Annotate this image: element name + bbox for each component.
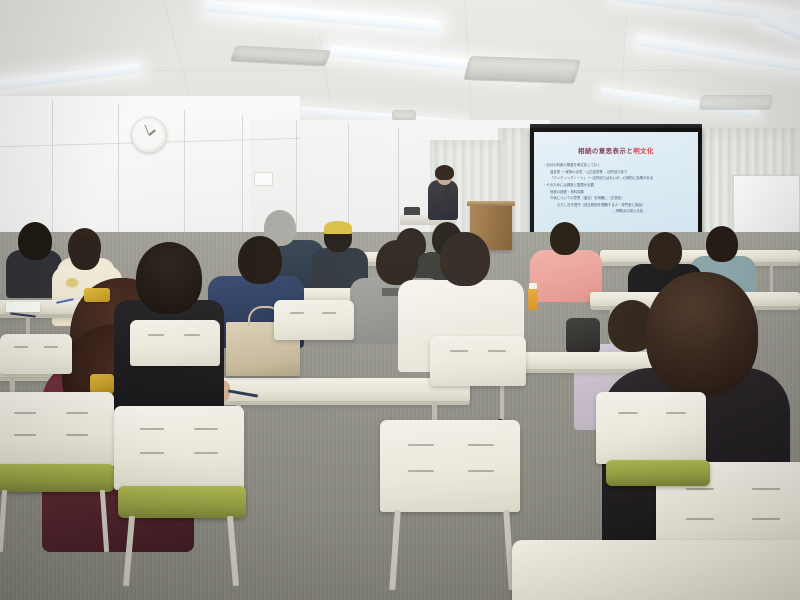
- presenter-torso: [428, 180, 458, 220]
- attendee-head: [70, 236, 100, 270]
- attendee-head: [18, 222, 52, 260]
- attendee-head: [648, 232, 682, 270]
- chair-back-slot: [408, 470, 434, 472]
- slide-line: → 問題点の見える化: [543, 208, 692, 215]
- chair-back-slot: [14, 346, 28, 348]
- chair-foreground-left[interactable]: [0, 392, 114, 468]
- chair-backrest: [430, 336, 526, 386]
- chair-back-slot: [140, 452, 164, 454]
- chair-back-slot: [66, 434, 88, 436]
- chair-backrest: [0, 334, 72, 374]
- chair-back-slot: [184, 334, 200, 336]
- chair-back-slot: [408, 444, 434, 446]
- wall-clock: [131, 117, 167, 153]
- chair-seat-cushion: [0, 464, 114, 492]
- slide-title-main: 相続の意思表示と: [578, 148, 633, 155]
- slide-line: 「エンディングノート」 ～ 法的効力はないが、心情的に効果がある: [543, 175, 692, 182]
- chair-foreground-right[interactable]: [380, 420, 520, 512]
- chair-back-slot: [66, 412, 88, 414]
- chair-back-slot: [618, 412, 638, 414]
- presenter-hair: [435, 165, 454, 180]
- chair-back-slot: [686, 488, 714, 490]
- seminar-room-photo: 相続の意思表示と明文化 ・自分の判断の尊重を明文化しておく 遺言書 ～ 家族の合…: [0, 0, 800, 600]
- yellow-cap: [324, 221, 352, 234]
- attendee-head: [706, 226, 738, 262]
- chair-back-slot: [290, 312, 304, 314]
- attendee-head: [646, 272, 758, 396]
- chair-backrest: [596, 392, 706, 464]
- air-conditioning-vent: [463, 56, 581, 84]
- bottle-cap: [529, 283, 537, 289]
- chair-back-slot: [140, 428, 164, 430]
- slide-body: ・自分の判断の尊重を明文化しておく 遺言書 ～ 家族の合意・公正証書等 →法的効…: [543, 162, 692, 215]
- chair-seat-cushion: [606, 460, 710, 486]
- attendee-head: [376, 240, 418, 285]
- chair-backrest: [114, 406, 244, 490]
- chair-back-slot: [44, 346, 58, 348]
- slide-line: ・自分の判断の尊重を明文化しておく: [543, 162, 692, 169]
- chair-backrest: [274, 300, 354, 340]
- lectern-top: [467, 201, 515, 206]
- chair-mid-center[interactable]: [130, 320, 220, 366]
- chair-foreground-center[interactable]: [114, 406, 244, 490]
- chair-back-slot: [14, 412, 36, 414]
- desk-leg: [770, 262, 773, 292]
- attendee-head: [238, 236, 282, 284]
- slide-line: 資産の調査・資料収集: [543, 189, 692, 196]
- chair-back-slot: [488, 350, 506, 352]
- chair-right-mid[interactable]: [596, 392, 706, 464]
- attendee-head: [136, 242, 202, 314]
- slide-title: 相続の意思表示と明文化: [534, 145, 698, 155]
- attendee-head: [440, 232, 490, 286]
- chair-back-slot: [194, 428, 218, 430]
- slide-line: 遺言書 ～ 家族の合意・公正証書等 →法的効力あり: [543, 169, 692, 176]
- chair-back-slot: [148, 334, 164, 336]
- chair-mid-left[interactable]: [0, 334, 72, 374]
- desk-foreground-bottom-right: [512, 540, 800, 600]
- chair-back-slot: [686, 518, 714, 520]
- chair-back-slot: [468, 444, 494, 446]
- slide-line: ・そのためには調査と整理が必要: [543, 182, 692, 189]
- chair-backrest: [0, 392, 114, 468]
- chair-back-slot: [14, 434, 36, 436]
- gold-hair-clip: [90, 374, 114, 394]
- ceiling-access-panel: [699, 95, 774, 110]
- chair-mid-right[interactable]: [430, 336, 526, 386]
- wall-notice-sign: [254, 172, 273, 186]
- chair-back-slot: [194, 452, 218, 454]
- chair-back-slot: [752, 518, 780, 520]
- backpack: [566, 318, 600, 354]
- chair-backrest: [130, 320, 220, 366]
- chair-backrest: [380, 420, 520, 512]
- slide-title-accent: 明文化: [633, 148, 654, 155]
- chair-back-slot: [450, 350, 468, 352]
- gold-hair-clip: [84, 288, 110, 302]
- slide-line: ただし法令遵守（改正税制を理解する人・専門家に相談）: [543, 202, 692, 209]
- slide-line: 今後についての意思（遺志）を明確に（文書化）: [543, 195, 692, 202]
- chair-back-slot: [322, 312, 336, 314]
- drink-bottle: [528, 288, 538, 310]
- floral-pattern: [66, 278, 78, 287]
- wall-panel-seam: [398, 128, 399, 248]
- handout-sheet: [6, 302, 40, 312]
- chair-back-slot: [752, 488, 780, 490]
- chair-back-right[interactable]: [274, 300, 354, 340]
- chair-seat-cushion: [118, 486, 246, 518]
- attendee-head: [550, 222, 580, 255]
- chair-back-slot: [666, 412, 686, 414]
- chair-back-slot: [468, 470, 494, 472]
